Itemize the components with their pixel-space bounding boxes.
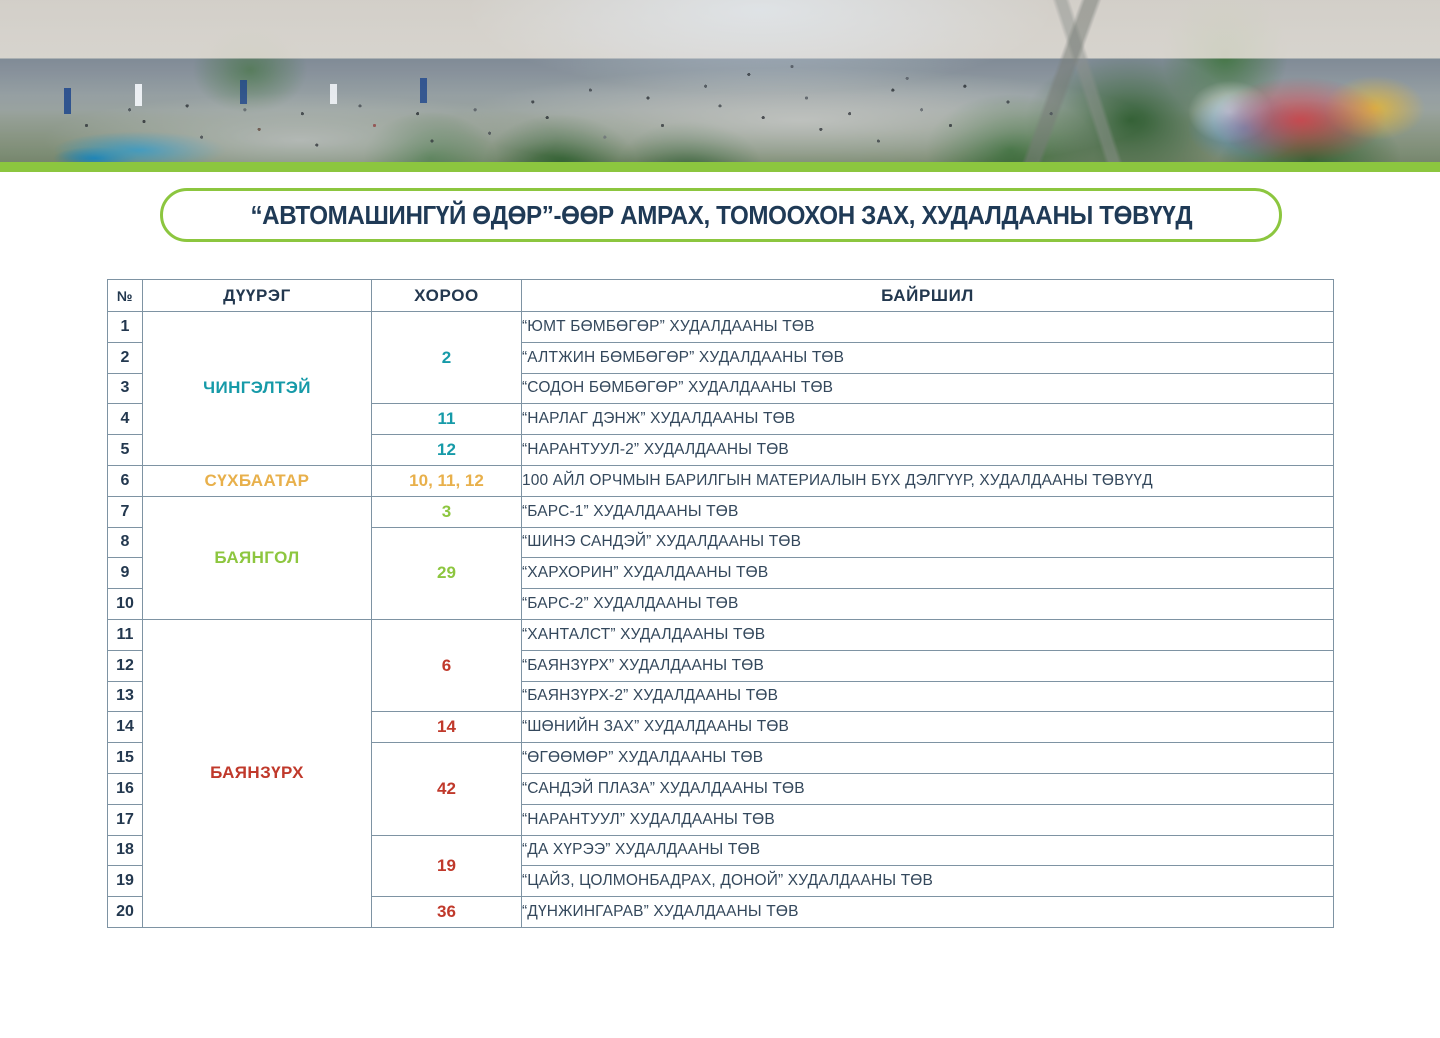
cell-location: “ДА ХҮРЭЭ” ХУДАЛДААНЫ ТӨВ — [522, 835, 1334, 866]
cell-no: 8 — [108, 527, 143, 558]
header-no: № — [108, 280, 143, 312]
cell-no: 20 — [108, 897, 143, 928]
cell-no: 17 — [108, 804, 143, 835]
hero-banner — [0, 0, 1440, 196]
cell-location: 100 АЙЛ ОРЧМЫН БАРИЛГЫН МАТЕРИАЛЫН БҮХ Д… — [522, 465, 1334, 496]
table-row: 11БАЯНЗҮРХ6“ХАНТАЛСТ” ХУДАЛДААНЫ ТӨВ — [108, 619, 1334, 650]
cell-khoroo: 12 — [372, 435, 522, 466]
table-row: 1ЧИНГЭЛТЭЙ2“ЮМТ БӨМБӨГӨР” ХУДАЛДААНЫ ТӨВ — [108, 312, 1334, 343]
cell-district: БАЯНГОЛ — [143, 496, 372, 619]
title-pill: “АВТОМАШИНГҮЙ ӨДӨР”-ӨӨР АМРАХ, ТОМООХОН … — [160, 188, 1282, 242]
cell-no: 19 — [108, 866, 143, 897]
cell-location: “БАРС-2” ХУДАЛДААНЫ ТӨВ — [522, 589, 1334, 620]
cell-location: “ДҮНЖИНГАРАВ” ХУДАЛДААНЫ ТӨВ — [522, 897, 1334, 928]
cell-no: 2 — [108, 342, 143, 373]
locations-table: № ДҮҮРЭГ ХОРОО БАЙРШИЛ 1ЧИНГЭЛТЭЙ2“ЮМТ Б… — [107, 279, 1334, 928]
green-divider-band — [0, 162, 1440, 172]
cell-no: 9 — [108, 558, 143, 589]
cell-no: 1 — [108, 312, 143, 343]
cell-location: “БАЯНЗҮРХ” ХУДАЛДААНЫ ТӨВ — [522, 650, 1334, 681]
cell-khoroo: 2 — [372, 312, 522, 404]
cell-location: “САНДЭЙ ПЛАЗА” ХУДАЛДААНЫ ТӨВ — [522, 773, 1334, 804]
table-body: 1ЧИНГЭЛТЭЙ2“ЮМТ БӨМБӨГӨР” ХУДАЛДААНЫ ТӨВ… — [108, 312, 1334, 928]
table-header-row: № ДҮҮРЭГ ХОРОО БАЙРШИЛ — [108, 280, 1334, 312]
cell-location: “НАРАНТУУЛ” ХУДАЛДААНЫ ТӨВ — [522, 804, 1334, 835]
cell-khoroo: 10, 11, 12 — [372, 465, 522, 496]
cell-no: 11 — [108, 619, 143, 650]
header-khoroo: ХОРОО — [372, 280, 522, 312]
cell-khoroo: 11 — [372, 404, 522, 435]
cell-location: “ХАНТАЛСТ” ХУДАЛДААНЫ ТӨВ — [522, 619, 1334, 650]
cell-location: “АЛТЖИН БӨМБӨГӨР” ХУДАЛДААНЫ ТӨВ — [522, 342, 1334, 373]
page-title: “АВТОМАШИНГҮЙ ӨДӨР”-ӨӨР АМРАХ, ТОМООХОН … — [250, 200, 1192, 231]
cell-location: “ХАРХОРИН” ХУДАЛДААНЫ ТӨВ — [522, 558, 1334, 589]
cell-location: “ЦАЙЗ, ЦОЛМОНБАДРАХ, ДОНОЙ” ХУДАЛДААНЫ Т… — [522, 866, 1334, 897]
header-location: БАЙРШИЛ — [522, 280, 1334, 312]
header-district: ДҮҮРЭГ — [143, 280, 372, 312]
cell-location: “НАРЛАГ ДЭНЖ” ХУДАЛДААНЫ ТӨВ — [522, 404, 1334, 435]
cell-khoroo: 14 — [372, 712, 522, 743]
cell-no: 7 — [108, 496, 143, 527]
cell-no: 6 — [108, 465, 143, 496]
cell-no: 3 — [108, 373, 143, 404]
cell-khoroo: 42 — [372, 743, 522, 835]
cell-no: 16 — [108, 773, 143, 804]
table-row: 6СҮХБААТАР10, 11, 12100 АЙЛ ОРЧМЫН БАРИЛ… — [108, 465, 1334, 496]
cell-location: “НАРАНТУУЛ-2” ХУДАЛДААНЫ ТӨВ — [522, 435, 1334, 466]
cell-district: СҮХБААТАР — [143, 465, 372, 496]
locations-table-wrapper: № ДҮҮРЭГ ХОРОО БАЙРШИЛ 1ЧИНГЭЛТЭЙ2“ЮМТ Б… — [107, 279, 1333, 928]
cell-location: “БАЯНЗҮРХ-2” ХУДАЛДААНЫ ТӨВ — [522, 681, 1334, 712]
cell-khoroo: 36 — [372, 897, 522, 928]
cell-district: ЧИНГЭЛТЭЙ — [143, 312, 372, 466]
cell-district: БАЯНЗҮРХ — [143, 619, 372, 927]
cell-no: 14 — [108, 712, 143, 743]
cell-location: “ШӨНИЙН ЗАХ” ХУДАЛДААНЫ ТӨВ — [522, 712, 1334, 743]
cell-location: “ЮМТ БӨМБӨГӨР” ХУДАЛДААНЫ ТӨВ — [522, 312, 1334, 343]
cell-no: 18 — [108, 835, 143, 866]
cell-no: 4 — [108, 404, 143, 435]
cell-location: “ШИНЭ САНДЭЙ” ХУДАЛДААНЫ ТӨВ — [522, 527, 1334, 558]
cell-no: 12 — [108, 650, 143, 681]
table-row: 7БАЯНГОЛ3“БАРС-1” ХУДАЛДААНЫ ТӨВ — [108, 496, 1334, 527]
cell-khoroo: 29 — [372, 527, 522, 619]
cell-no: 15 — [108, 743, 143, 774]
cell-location: “СОДОН БӨМБӨГӨР” ХУДАЛДААНЫ ТӨВ — [522, 373, 1334, 404]
cell-location: “БАРС-1” ХУДАЛДААНЫ ТӨВ — [522, 496, 1334, 527]
cell-no: 5 — [108, 435, 143, 466]
cell-khoroo: 6 — [372, 619, 522, 711]
cell-khoroo: 3 — [372, 496, 522, 527]
cell-no: 13 — [108, 681, 143, 712]
cell-location: “ӨГӨӨМӨР” ХУДАЛДААНЫ ТӨВ — [522, 743, 1334, 774]
cell-no: 10 — [108, 589, 143, 620]
cell-khoroo: 19 — [372, 835, 522, 897]
